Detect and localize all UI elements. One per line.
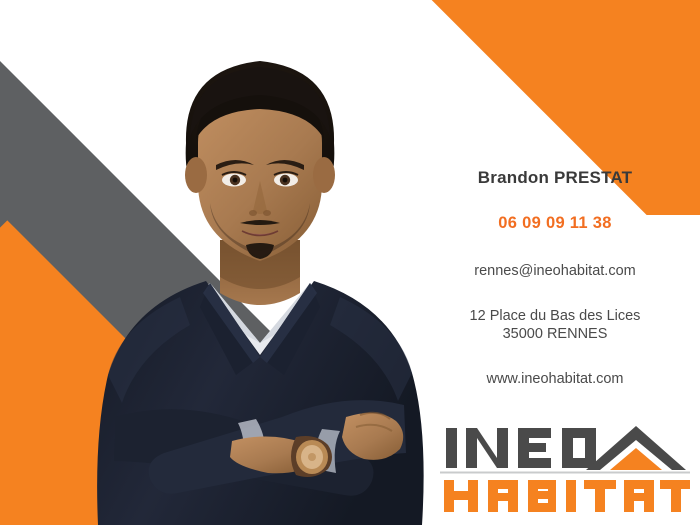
- address-line-1: 12 Place du Bas des Lices: [410, 307, 700, 325]
- contact-website[interactable]: www.ineohabitat.com: [410, 371, 700, 387]
- portrait-photo: [60, 25, 460, 525]
- business-card: Brandon PRESTAT 06 09 09 11 38 rennes@in…: [0, 0, 700, 525]
- gray-diagonal-stripe-top-right: [488, 0, 700, 83]
- logo-word-ineo: [446, 428, 596, 468]
- ineo-habitat-logo: [440, 420, 690, 515]
- contact-address: 12 Place du Bas des Lices 35000 RENNES: [410, 307, 700, 343]
- contact-email[interactable]: rennes@ineohabitat.com: [410, 263, 700, 279]
- house-roof-chevron-icon: [586, 426, 686, 470]
- contact-info-block: Brandon PRESTAT 06 09 09 11 38 rennes@in…: [410, 168, 700, 387]
- address-line-2: 35000 RENNES: [410, 325, 700, 343]
- logo-divider-line: [440, 472, 690, 474]
- contact-phone[interactable]: 06 09 09 11 38: [410, 214, 700, 233]
- contact-name: Brandon PRESTAT: [410, 168, 700, 188]
- logo-word-habitat: [444, 480, 690, 512]
